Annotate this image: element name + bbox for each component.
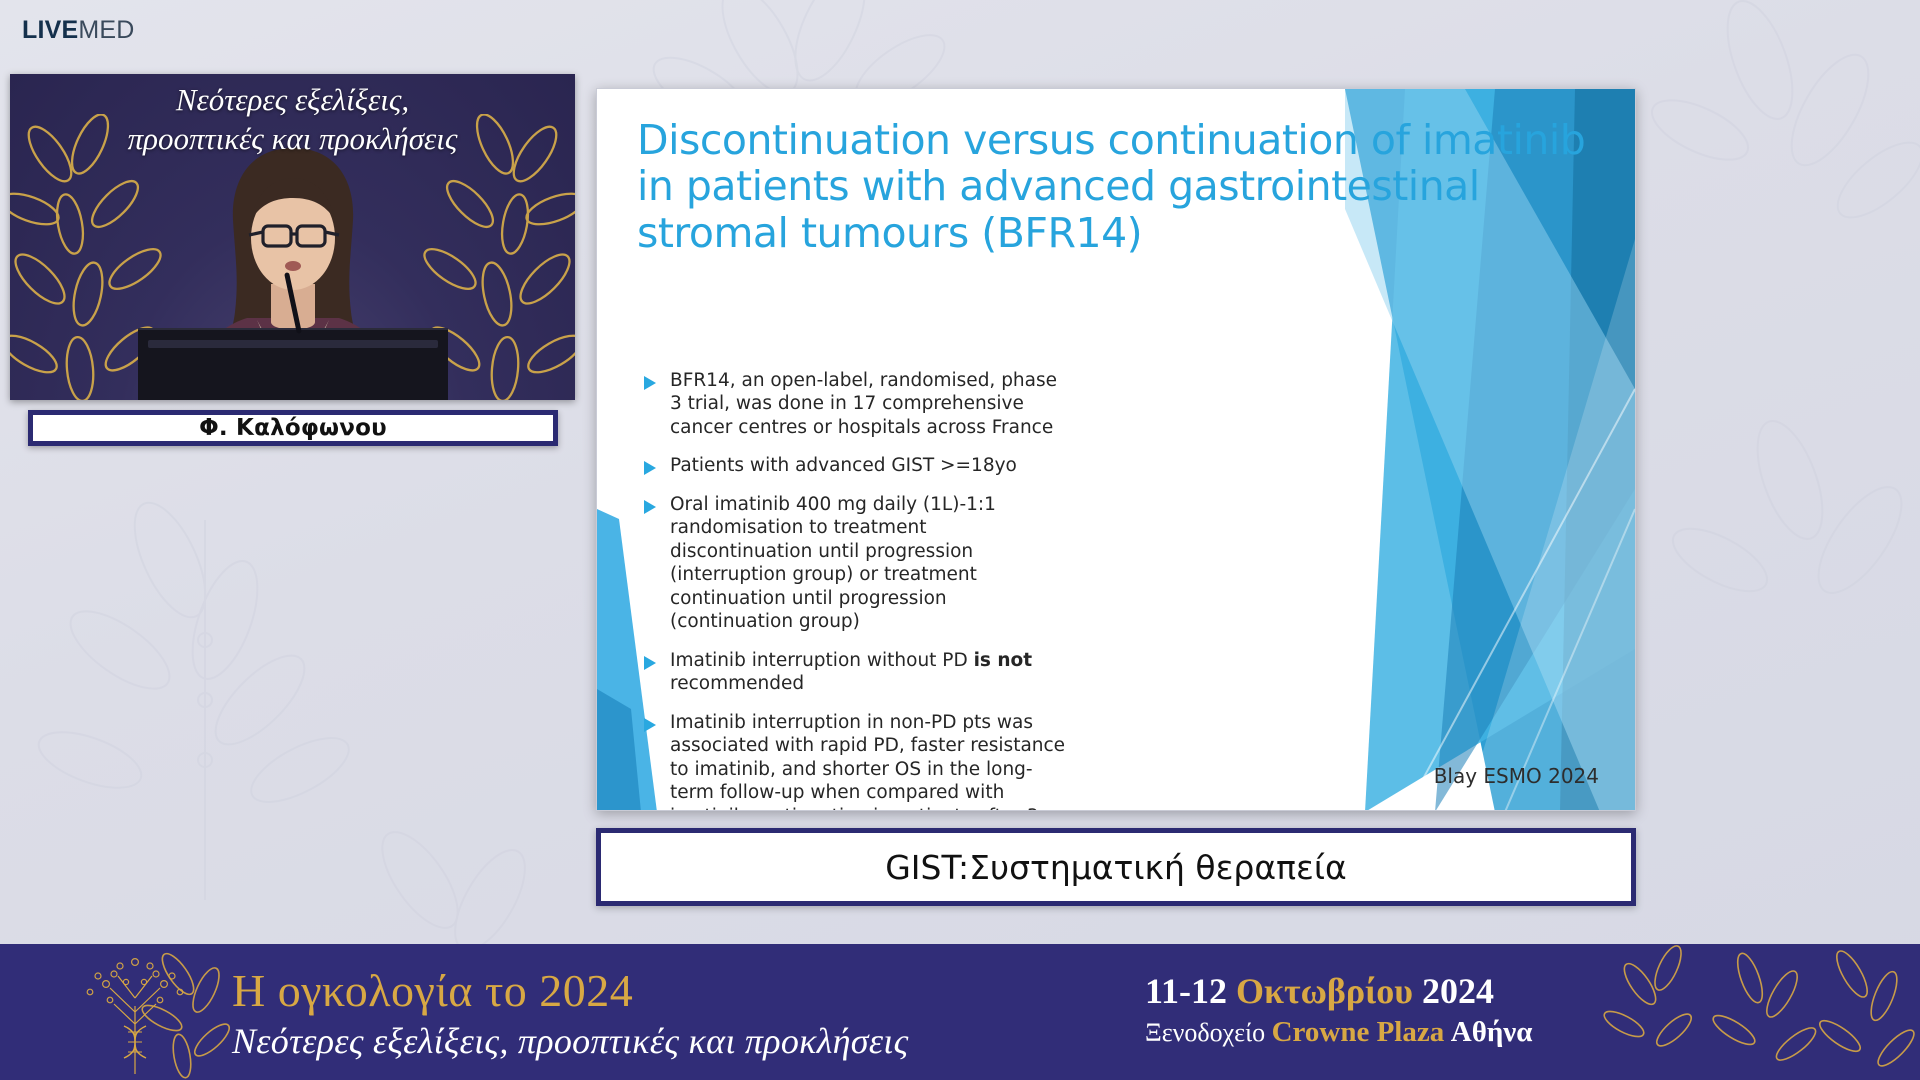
slide-source-citation: Blay ESMO 2024 — [1434, 764, 1599, 788]
session-caption-bar: GIST:Συστηματική θεραπεία — [596, 828, 1636, 906]
banner-date-range: 11-12 — [1145, 971, 1227, 1011]
podium-laptop — [138, 328, 448, 400]
video-overlay-title: Νεότερες εξελίξεις, προοπτικές και προκλ… — [10, 80, 575, 158]
banner-date-year: 2024 — [1422, 971, 1494, 1011]
logo-light-text: MED — [78, 16, 134, 44]
bullet-text: Imatinib interruption without PD is not … — [670, 649, 1072, 696]
triangle-bullet-icon — [642, 711, 670, 811]
tree-dna-logo-icon — [60, 954, 210, 1076]
speaker-video-panel[interactable]: Νεότερες εξελίξεις, προοπτικές και προκλ… — [10, 74, 575, 448]
banner-title: Η ογκολογία το 2024 — [232, 964, 909, 1017]
slide-bullet-list: BFR14, an open-label, randomised, phase … — [642, 369, 1072, 811]
triangle-bullet-icon — [642, 649, 670, 696]
speaker-name: Φ. Καλόφωνου — [199, 415, 387, 441]
banner-venue-line: Ξενοδοχείο Crowne Plaza Αθήνα — [1145, 1016, 1532, 1049]
video-overlay-title-line2: προοπτικές και προκλήσεις — [10, 119, 575, 158]
banner-date-month: Οκτωβρίου — [1236, 971, 1413, 1011]
list-item: Imatinib interruption in non-PD pts was … — [642, 711, 1072, 811]
logo-bold-text: LIVE — [22, 16, 78, 44]
bullet-text: Oral imatinib 400 mg daily (1L)-1:1 rand… — [670, 493, 1072, 634]
banner-venue-city: Αθήνα — [1451, 1016, 1533, 1048]
list-item: Imatinib interruption without PD is not … — [642, 649, 1072, 696]
session-caption-text: GIST:Συστηματική θεραπεία — [885, 848, 1347, 887]
list-item: Patients with advanced GIST >=18yo — [642, 454, 1072, 477]
banner-date-line: 11-12 Οκτωβρίου 2024 — [1145, 970, 1532, 1012]
speaker-name-bar: Φ. Καλόφωνου — [28, 410, 558, 446]
bullet-text: Patients with advanced GIST >=18yo — [670, 454, 1017, 477]
list-item: Oral imatinib 400 mg daily (1L)-1:1 rand… — [642, 493, 1072, 634]
banner-subtitle: Νεότερες εξελίξεις, προοπτικές και προκλ… — [232, 1020, 909, 1062]
bullet-text: Imatinib interruption in non-PD pts was … — [670, 711, 1072, 811]
triangle-bullet-icon — [642, 369, 670, 439]
livemed-logo: LIVEMED — [22, 16, 135, 45]
bullet-text: BFR14, an open-label, randomised, phase … — [670, 369, 1072, 439]
video-frame[interactable]: Νεότερες εξελίξεις, προοπτικές και προκλ… — [10, 74, 575, 400]
triangle-bullet-icon — [642, 493, 670, 634]
triangle-bullet-icon — [642, 454, 670, 477]
banner-text-block: Η ογκολογία το 2024 Νεότερες εξελίξεις, … — [232, 964, 909, 1062]
banner-venue-name: Crowne Plaza — [1272, 1016, 1445, 1048]
event-banner: Η ογκολογία το 2024 Νεότερες εξελίξεις, … — [0, 944, 1920, 1080]
banner-ornament-right — [1600, 944, 1920, 1080]
slide-title: Discontinuation versus continuation of i… — [637, 117, 1597, 256]
banner-venue-prefix: Ξενοδοχείο — [1145, 1018, 1265, 1047]
presentation-slide[interactable]: Discontinuation versus continuation of i… — [596, 88, 1636, 811]
banner-details-block: 11-12 Οκτωβρίου 2024 Ξενοδοχείο Crowne P… — [1145, 970, 1532, 1049]
list-item: BFR14, an open-label, randomised, phase … — [642, 369, 1072, 439]
video-overlay-title-line1: Νεότερες εξελίξεις, — [10, 80, 575, 119]
